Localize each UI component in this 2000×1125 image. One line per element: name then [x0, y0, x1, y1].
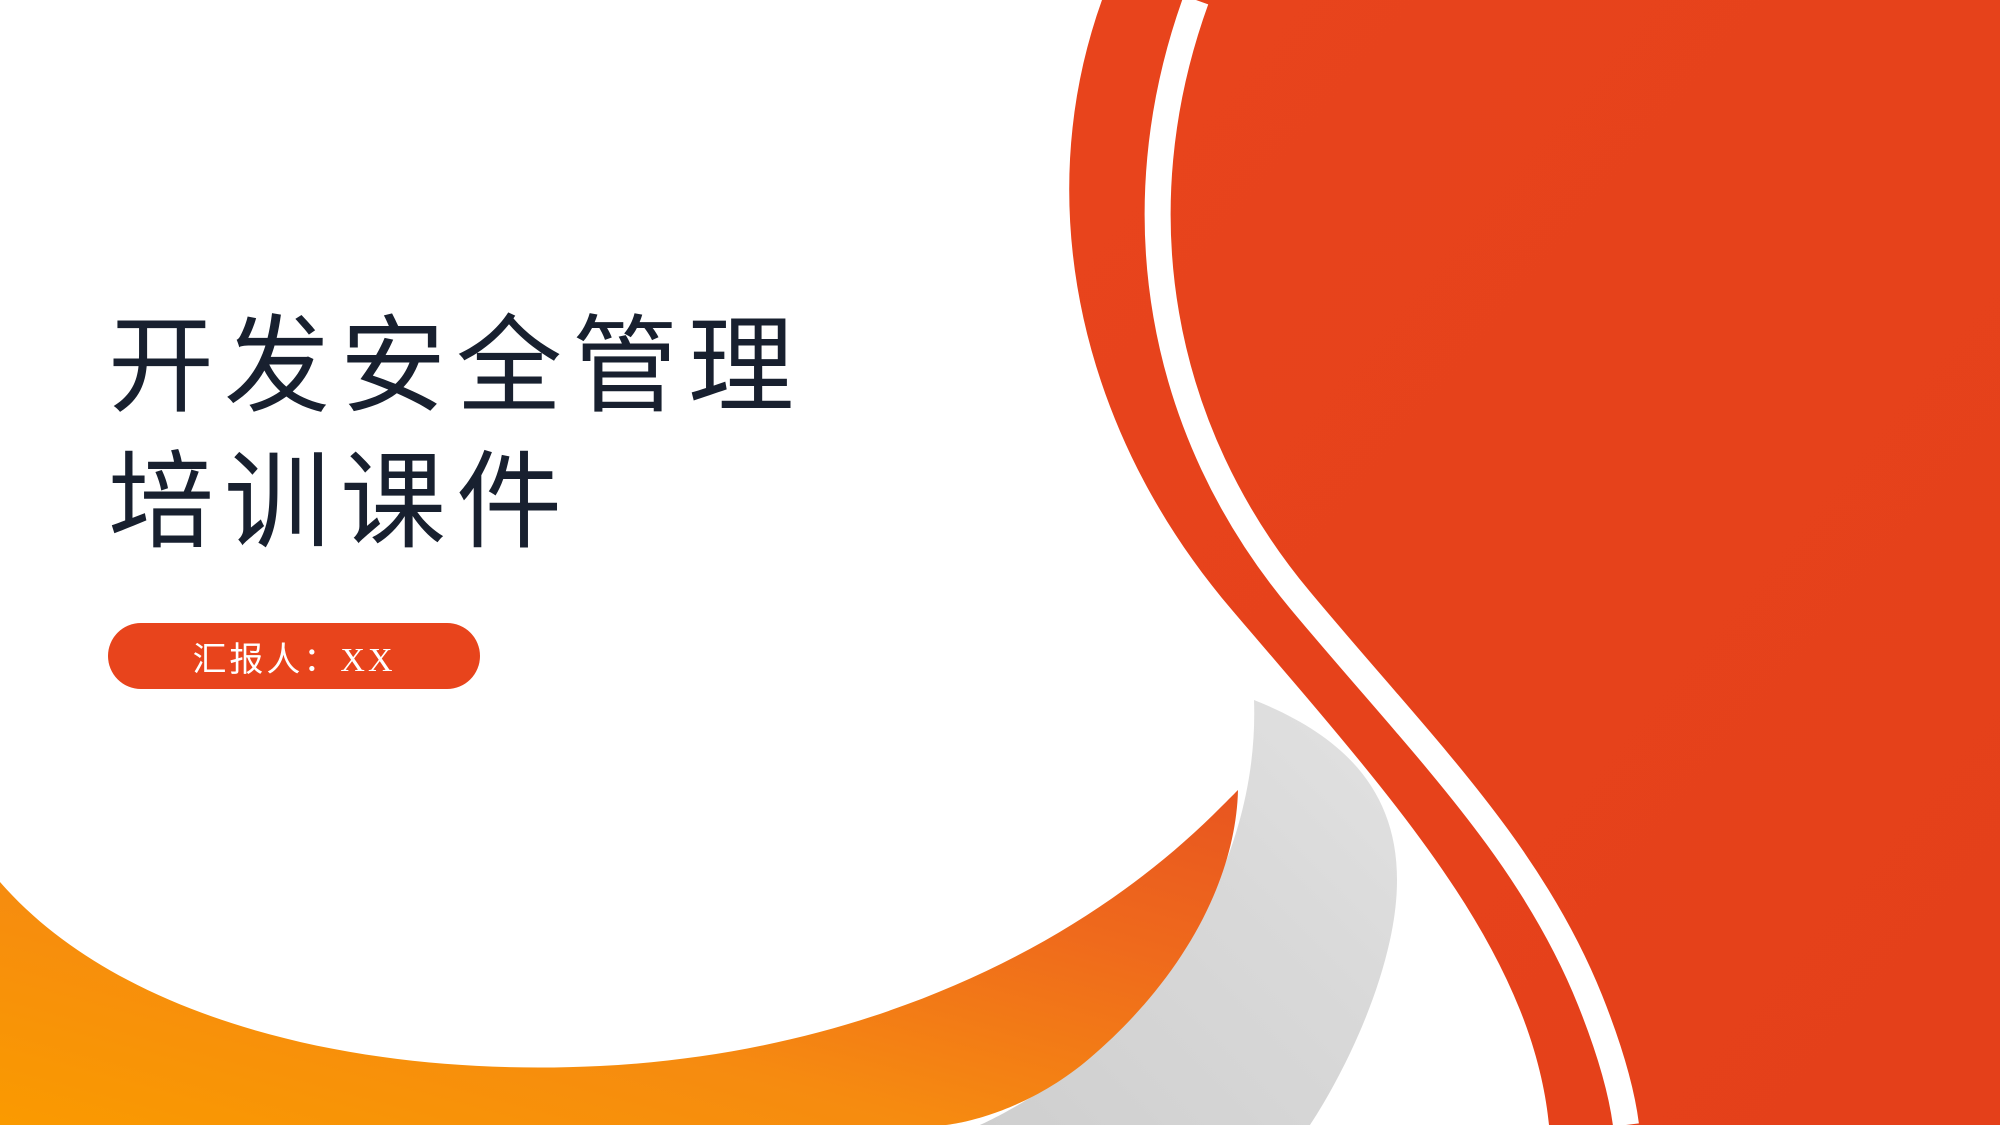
slide-title-line-2: 培训课件	[108, 436, 968, 572]
orange-gradient-swoosh	[0, 790, 1238, 1125]
title-text-block: 开发安全管理 培训课件 汇报人：XX	[108, 300, 968, 689]
presentation-slide: 开发安全管理 培训课件 汇报人：XX	[0, 0, 2000, 1125]
slide-title-line-1: 开发安全管理	[108, 300, 968, 436]
presenter-badge[interactable]: 汇报人：XX	[108, 623, 480, 689]
